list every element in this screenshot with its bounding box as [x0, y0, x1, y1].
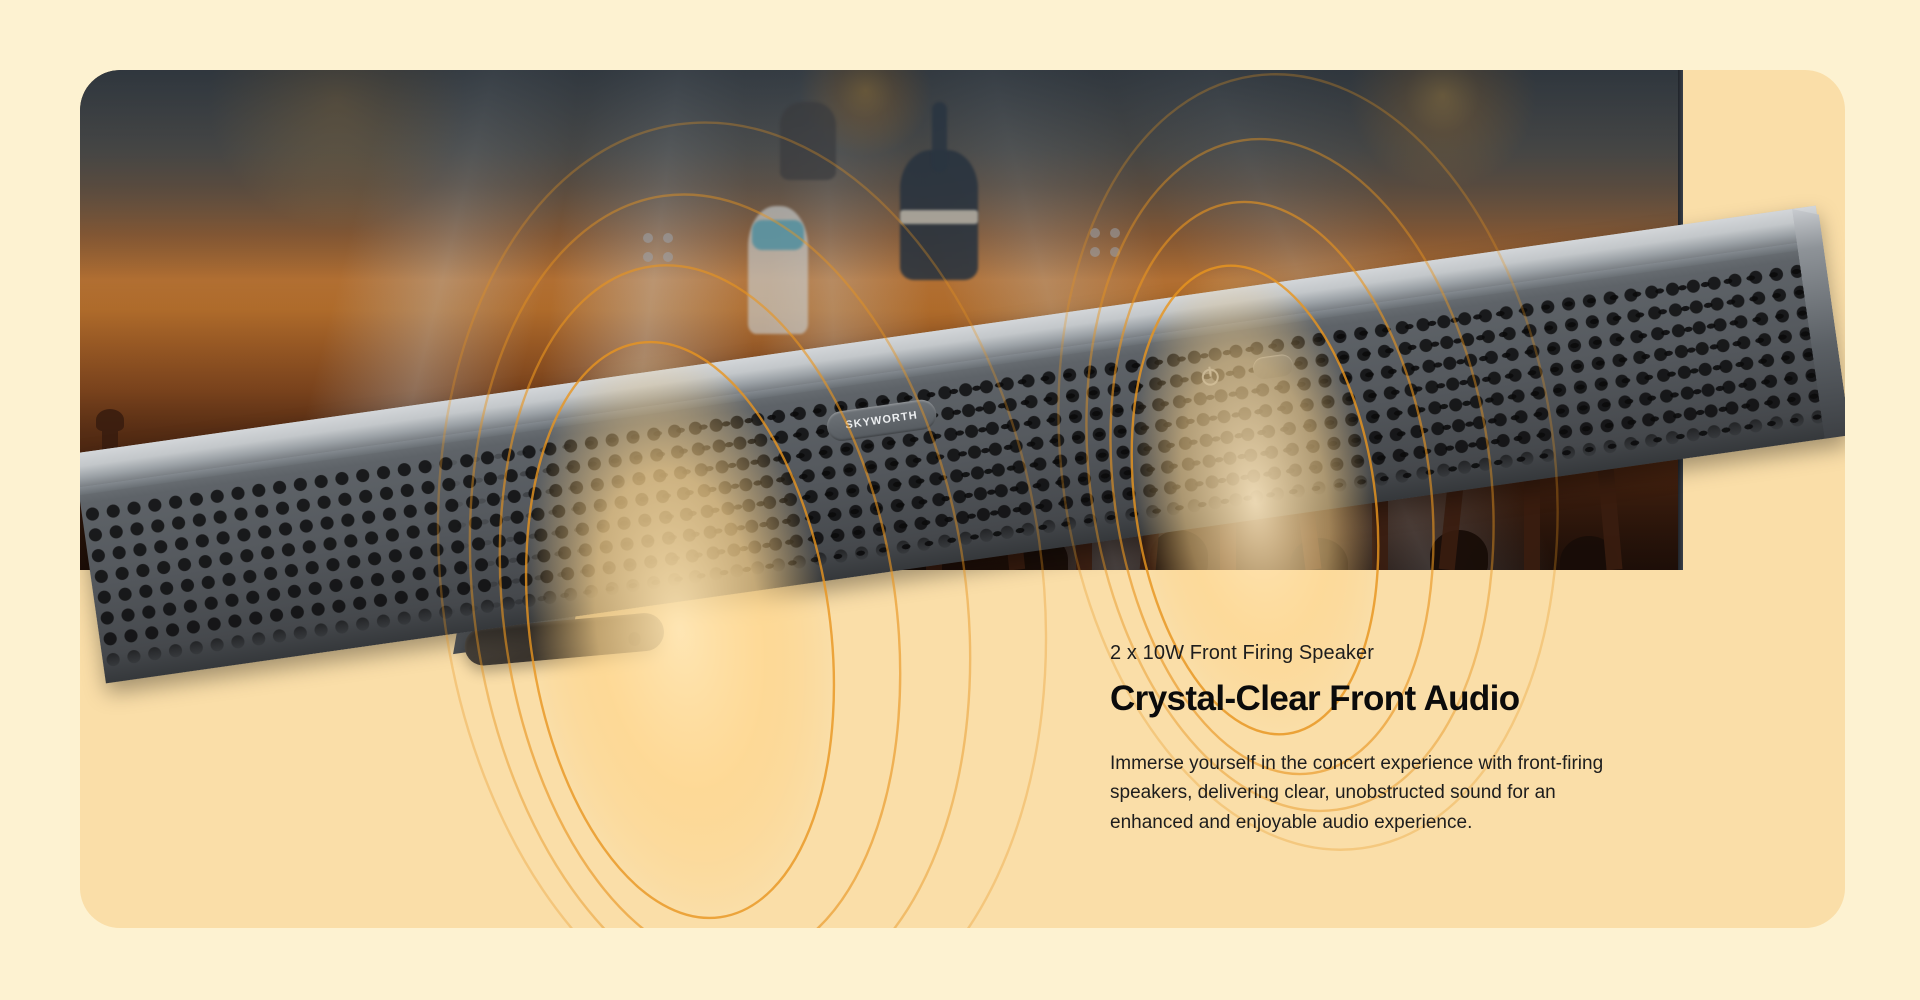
- soundbar-body: SKYWORTH: [80, 206, 1845, 684]
- feature-card: SKYWORTH: [80, 70, 1845, 928]
- brand-logo-text: SKYWORTH: [845, 409, 919, 431]
- page-root: SKYWORTH: [0, 0, 1920, 1000]
- page-title: Crystal-Clear Front Audio: [1110, 679, 1670, 719]
- eyebrow-text: 2 x 10W Front Firing Speaker: [1110, 642, 1670, 665]
- body-text: Immerse yourself in the concert experien…: [1110, 749, 1630, 837]
- copy-block: 2 x 10W Front Firing Speaker Crystal-Cle…: [1110, 642, 1670, 837]
